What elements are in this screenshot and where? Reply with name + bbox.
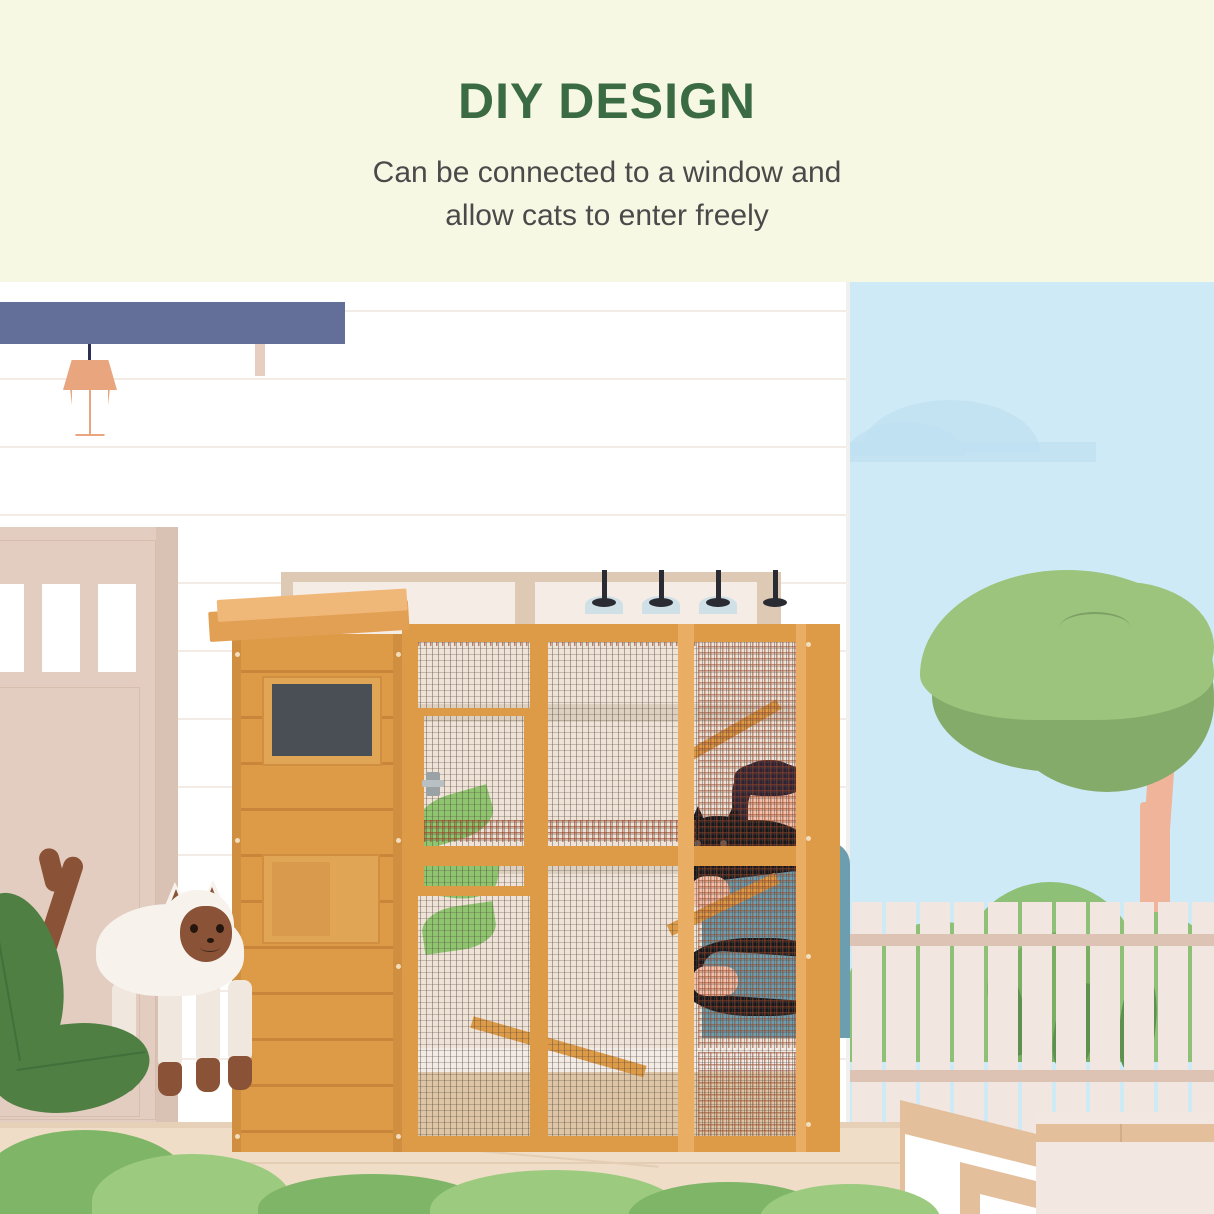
siamese-cat-eye xyxy=(216,924,224,933)
screw xyxy=(235,652,240,657)
screw xyxy=(396,652,401,657)
patio-edge xyxy=(1036,1124,1214,1142)
screw xyxy=(806,954,811,959)
siamese-cat-mouth xyxy=(200,942,220,952)
vent-base xyxy=(592,598,616,607)
vent-pole xyxy=(773,570,778,600)
tree-canopy xyxy=(1035,582,1214,712)
siamese-cat-paw xyxy=(228,1056,252,1090)
door-glass-pane xyxy=(0,584,24,672)
header-banner: DIY DESIGN Can be connected to a window … xyxy=(0,0,1214,282)
vent-base xyxy=(763,598,787,607)
vent-pole xyxy=(659,570,664,600)
run-frame-top xyxy=(402,624,840,642)
run-frame-mid-rail xyxy=(402,846,840,866)
house-plank-line xyxy=(232,808,402,811)
mesh-door-top xyxy=(414,708,534,716)
siamese-cat-eye xyxy=(190,924,198,933)
product-marketing-image: DIY DESIGN Can be connected to a window … xyxy=(0,0,1214,1214)
door-latch[interactable] xyxy=(422,780,444,787)
screw xyxy=(396,838,401,843)
cloud-shape xyxy=(846,442,1096,462)
house-corner-trim xyxy=(393,634,402,1152)
screw xyxy=(396,964,401,969)
awning-corner xyxy=(258,302,320,344)
mesh-door-right xyxy=(524,708,534,896)
mesh-door-bottom xyxy=(414,886,534,896)
screw xyxy=(235,838,240,843)
cat-house-catio[interactable] xyxy=(210,592,840,1152)
run-frame-bottom xyxy=(402,1136,840,1152)
siding-seam xyxy=(0,514,850,516)
siding-seam xyxy=(0,446,850,448)
mesh-door-left xyxy=(414,708,424,896)
mesh-rail-band xyxy=(406,820,696,842)
run-frame-corner xyxy=(796,624,806,1152)
door-glass-pane xyxy=(98,584,136,672)
fence-rail xyxy=(846,1070,1214,1082)
siamese-cat-paw xyxy=(196,1058,220,1092)
siamese-cat-leg xyxy=(228,980,252,1062)
subtitle-line-2: allow cats to enter freely xyxy=(0,195,1214,238)
vent-base xyxy=(706,598,730,607)
page-title: DIY DESIGN xyxy=(0,72,1214,130)
siding-seam xyxy=(0,378,850,380)
vent-pole xyxy=(602,570,607,600)
patio-seam xyxy=(1120,1124,1122,1142)
lantern-bar xyxy=(89,388,91,436)
screw xyxy=(806,836,811,841)
run-frame-mullion xyxy=(678,624,694,1152)
siamese-cat-face-mask xyxy=(180,906,232,962)
vent-base xyxy=(649,598,673,607)
awning-post xyxy=(255,344,265,376)
screw xyxy=(806,642,811,647)
foreground-group xyxy=(0,862,300,1214)
tree-canopy-detail xyxy=(1060,612,1130,642)
screw xyxy=(396,1134,401,1139)
vent-pole xyxy=(716,570,721,600)
screw xyxy=(806,1122,811,1127)
siamese-cat-leg xyxy=(158,986,182,1068)
fence-rail xyxy=(846,934,1214,946)
house-plank-line xyxy=(232,670,402,673)
lantern-icon xyxy=(63,360,117,390)
cat-house-window-glass xyxy=(272,684,372,756)
siamese-cat-paw xyxy=(158,1062,182,1096)
subtitle-line-1: Can be connected to a window and xyxy=(0,152,1214,195)
wire-mesh-run xyxy=(402,624,840,1152)
door-glass-pane xyxy=(42,584,80,672)
scene-illustration xyxy=(0,282,1214,1214)
page-subtitle: Can be connected to a window and allow c… xyxy=(0,152,1214,237)
